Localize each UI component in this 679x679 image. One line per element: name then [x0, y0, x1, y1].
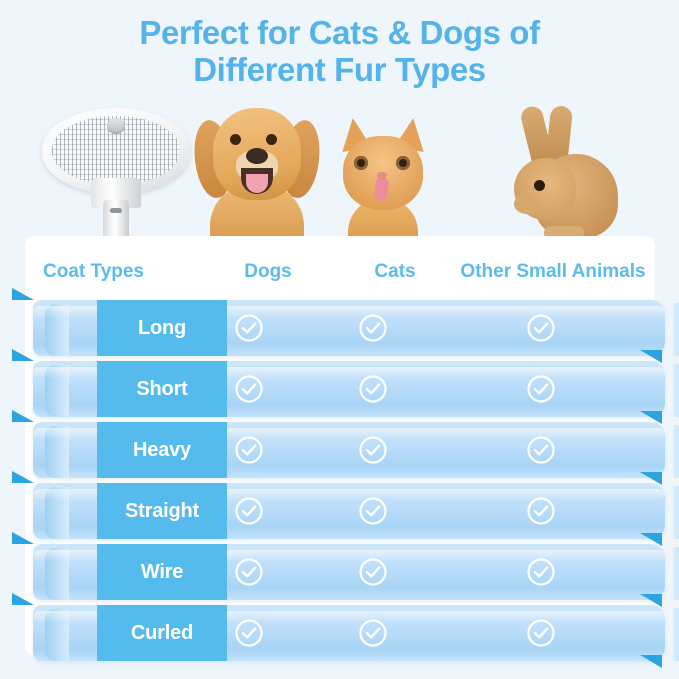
ribbon-fold-right	[673, 303, 679, 356]
check-circle-icon	[526, 435, 556, 465]
ribbon-tail-left	[12, 471, 34, 483]
coat-type-label: Curled	[131, 622, 193, 645]
ribbon-tail-left	[12, 349, 34, 361]
ribbon-fold-right	[673, 547, 679, 600]
coat-type-label: Short	[136, 378, 187, 401]
ribbon-tail-right	[640, 655, 662, 668]
ribbon-tail-left	[12, 410, 34, 422]
check-circle-icon	[358, 435, 388, 465]
ribbon-fold-left	[45, 304, 69, 356]
coat-type-label-block: Long	[97, 300, 227, 356]
check-circle-icon	[358, 618, 388, 648]
check-circle-icon	[234, 557, 264, 587]
ribbon-fold-right	[673, 486, 679, 539]
ribbon-fold-left	[45, 365, 69, 417]
ribbon-tail-left	[12, 532, 34, 544]
check-circle-icon	[234, 496, 264, 526]
ribbon-fold-left	[45, 487, 69, 539]
coat-type-label-block: Straight	[97, 483, 227, 539]
check-circle-icon	[526, 618, 556, 648]
table-row[interactable]: Straight	[0, 483, 679, 539]
coat-type-label-block: Short	[97, 361, 227, 417]
coat-type-label: Wire	[141, 561, 183, 584]
check-circle-icon	[358, 374, 388, 404]
check-circle-icon	[526, 374, 556, 404]
check-circle-icon	[234, 618, 264, 648]
check-circle-icon	[234, 313, 264, 343]
check-circle-icon	[358, 313, 388, 343]
ribbon-fold-left	[45, 609, 69, 661]
check-circle-icon	[358, 496, 388, 526]
coat-type-label-block: Heavy	[97, 422, 227, 478]
table-row[interactable]: Long	[0, 300, 679, 356]
check-circle-icon	[526, 496, 556, 526]
check-circle-icon	[526, 557, 556, 587]
check-circle-icon	[234, 374, 264, 404]
ribbon-fold-left	[45, 426, 69, 478]
table-body: LongShortHeavyStraightWireCurled	[0, 0, 679, 679]
coat-type-label: Straight	[125, 500, 199, 523]
ribbon-fold-right	[673, 608, 679, 661]
check-circle-icon	[526, 313, 556, 343]
ribbon-tail-left	[12, 593, 34, 605]
table-row[interactable]: Wire	[0, 544, 679, 600]
ribbon-fold-right	[673, 364, 679, 417]
ribbon-fold-right	[673, 425, 679, 478]
ribbon-tail-left	[12, 288, 34, 300]
coat-type-label-block: Wire	[97, 544, 227, 600]
check-circle-icon	[358, 557, 388, 587]
coat-type-label-block: Curled	[97, 605, 227, 661]
ribbon-fold-left	[45, 548, 69, 600]
table-row[interactable]: Heavy	[0, 422, 679, 478]
coat-type-label: Long	[138, 317, 186, 340]
coat-type-label: Heavy	[133, 439, 191, 462]
check-circle-icon	[234, 435, 264, 465]
table-row[interactable]: Short	[0, 361, 679, 417]
table-row[interactable]: Curled	[0, 605, 679, 661]
